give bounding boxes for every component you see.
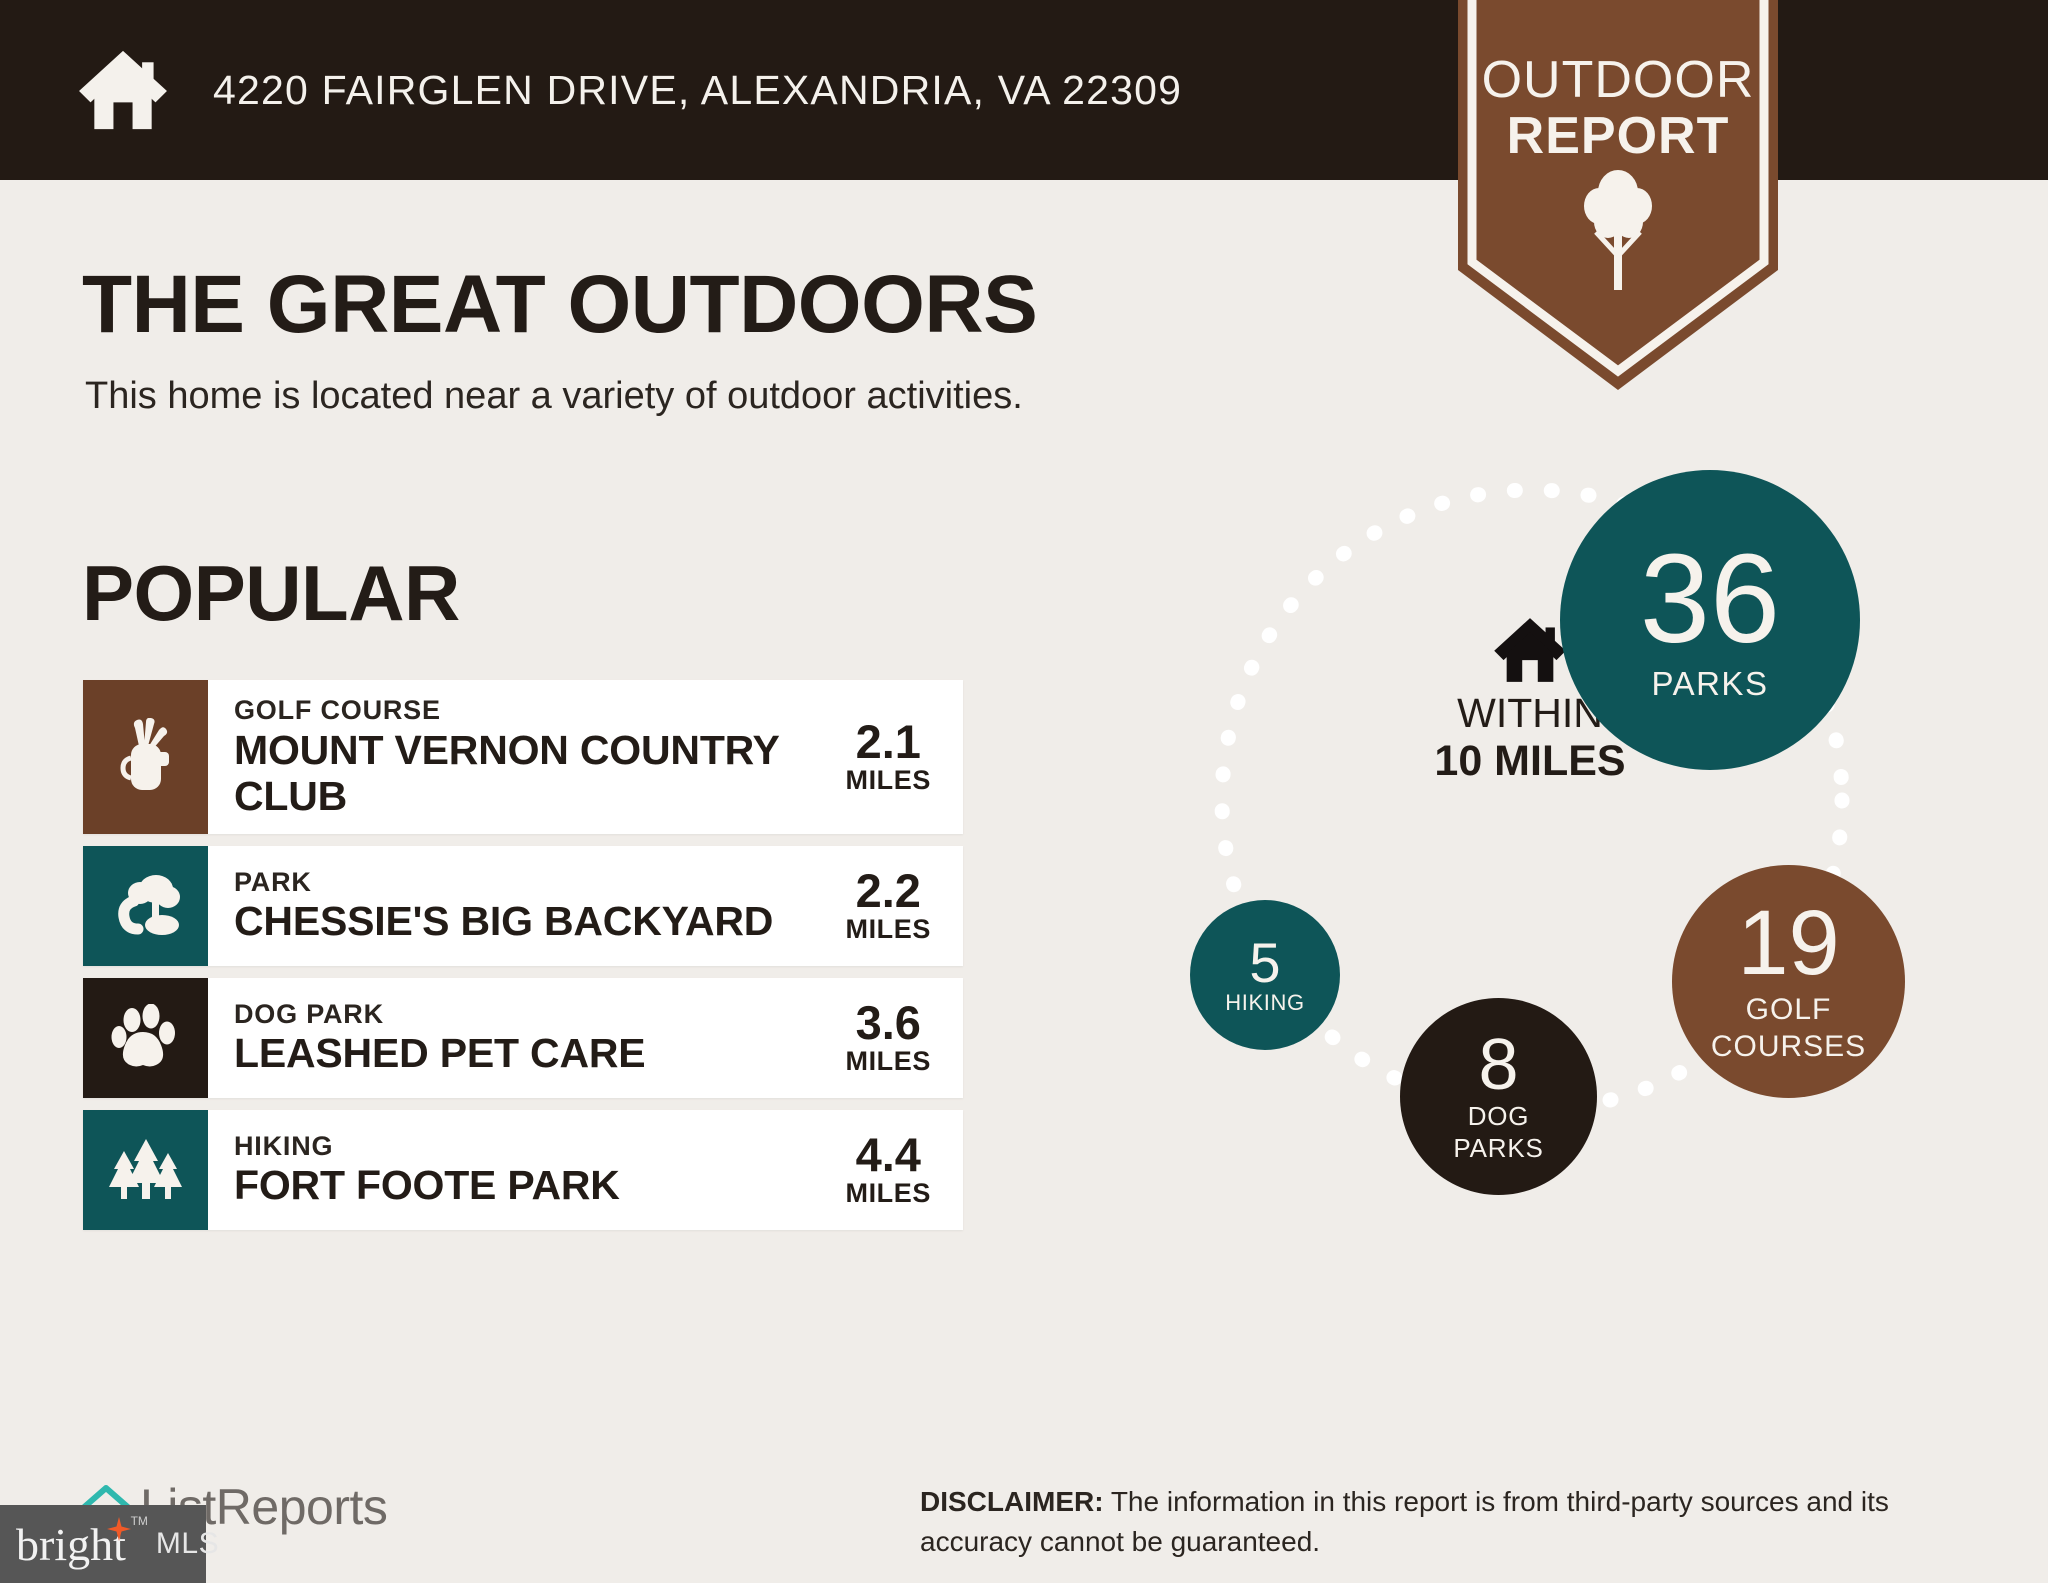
popular-list: GOLF COURSE MOUNT VERNON COUNTRY CLUB 2.…: [83, 680, 963, 1242]
pine-trees-icon: [83, 1110, 208, 1230]
stat-label-line-1: DOG: [1468, 1103, 1530, 1130]
list-item-name: MOUNT VERNON COUNTRY CLUB: [234, 728, 835, 820]
disclaimer-label: DISCLAIMER:: [920, 1486, 1104, 1517]
stat-label: HIKING: [1225, 991, 1304, 1014]
stat-label: PARKS: [1652, 667, 1769, 702]
list-item-category: PARK: [234, 866, 835, 900]
list-item-name: CHESSIE'S BIG BACKYARD: [234, 899, 835, 945]
list-item[interactable]: HIKING FORT FOOTE PARK 4.4 MILES: [83, 1110, 963, 1230]
list-item-distance: 4.4: [845, 1131, 931, 1178]
mls-suffix: MLS: [156, 1527, 219, 1561]
stat-label-line-1: GOLF: [1746, 994, 1832, 1026]
list-item-name: FORT FOOTE PARK: [234, 1163, 835, 1209]
outdoor-report-badge: OUTDOOR REPORT: [1458, 0, 1778, 390]
stat-value: 19: [1737, 900, 1839, 987]
stat-value: 8: [1478, 1031, 1518, 1099]
list-item[interactable]: PARK CHESSIE'S BIG BACKYARD 2.2 MILES: [83, 846, 963, 966]
park-tree-icon: [83, 846, 208, 966]
list-item-category: DOG PARK: [234, 998, 835, 1032]
stat-value: 5: [1249, 936, 1280, 989]
house-icon: [1491, 615, 1569, 685]
trademark-mark: TM: [131, 1514, 148, 1528]
list-item-name: LEASHED PET CARE: [234, 1031, 835, 1077]
mls-brand: bright TM: [16, 1518, 126, 1571]
star-icon: [106, 1516, 132, 1542]
list-item-category: GOLF COURSE: [234, 694, 835, 728]
bright-mls-watermark: bright TM MLS: [0, 1505, 206, 1583]
list-item-distance: 2.1: [845, 718, 931, 765]
disclaimer: DISCLAIMER: The information in this repo…: [920, 1482, 2000, 1562]
list-item-category: HIKING: [234, 1130, 835, 1164]
stat-label-line-2: PARKS: [1453, 1135, 1543, 1162]
golf-bag-icon: [83, 680, 208, 834]
stat-bubble-golf-courses[interactable]: 19 GOLF COURSES: [1672, 865, 1905, 1098]
stat-label-line-2: COURSES: [1711, 1031, 1866, 1063]
stat-bubble-hiking[interactable]: 5 HIKING: [1190, 900, 1340, 1050]
list-item[interactable]: GOLF COURSE MOUNT VERNON COUNTRY CLUB 2.…: [83, 680, 963, 834]
stat-bubble-parks[interactable]: 36 PARKS: [1560, 470, 1860, 770]
page-title: THE GREAT OUTDOORS: [82, 258, 1037, 352]
stat-value: 36: [1640, 539, 1780, 659]
list-item-unit: MILES: [845, 914, 931, 945]
popular-heading: POPULAR: [82, 548, 460, 639]
house-icon: [75, 47, 171, 133]
list-item-distance: 3.6: [845, 999, 931, 1046]
property-address: 4220 FAIRGLEN DRIVE, ALEXANDRIA, VA 2230…: [213, 67, 1182, 114]
list-item[interactable]: DOG PARK LEASHED PET CARE 3.6 MILES: [83, 978, 963, 1098]
within-10-miles-diagram: WITHIN 10 MILES 36 PARKS 19 GOLF COURSES…: [1080, 470, 2020, 1330]
list-item-distance: 2.2: [845, 867, 931, 914]
paw-print-icon: [83, 978, 208, 1098]
stat-bubble-dog-parks[interactable]: 8 DOG PARKS: [1400, 998, 1597, 1195]
list-item-unit: MILES: [845, 1046, 931, 1077]
dotted-circle-ring: [1080, 470, 2020, 1330]
page-subtitle: This home is located near a variety of o…: [85, 375, 1023, 418]
list-item-unit: MILES: [845, 1178, 931, 1209]
list-item-unit: MILES: [845, 765, 931, 796]
